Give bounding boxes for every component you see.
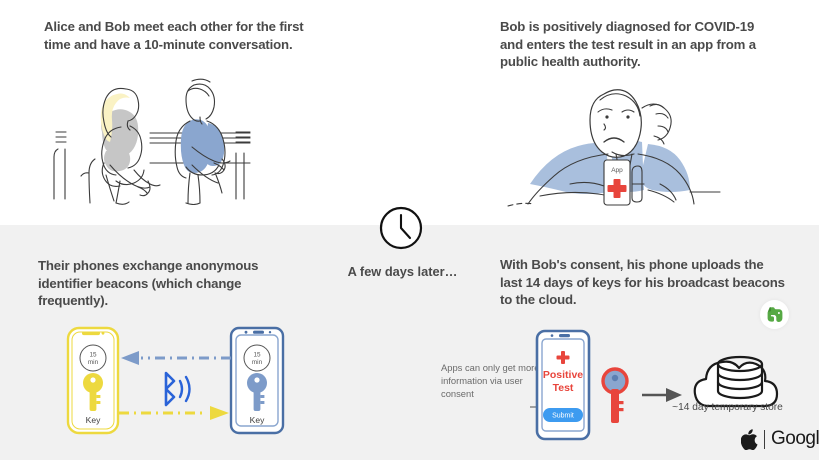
upload-arrow-icon [642, 388, 682, 402]
beacon-arrowhead-left [121, 351, 139, 365]
brand-lockup: Google [741, 428, 819, 450]
submit-label: Submit [552, 413, 574, 420]
alice-timer-value: 15 [89, 352, 97, 359]
shoulder-fill-left [530, 143, 610, 194]
beacon-arrowhead-right [210, 406, 229, 420]
alice-timer-unit: min [88, 359, 99, 366]
alice-phone: 15 min Key [68, 328, 118, 433]
bob-timer-unit: min [252, 359, 263, 366]
step1-heading: Alice and Bob meet each other for the fi… [44, 18, 304, 53]
bob-key-label: Key [250, 415, 265, 425]
bob-timer-value: 15 [253, 352, 261, 359]
bluetooth-icon [166, 373, 190, 405]
alice-key-label: Key [86, 415, 101, 425]
positive-test-phone: Positive Test Submit [537, 331, 589, 439]
diagnosed-man-illustration: App [500, 80, 735, 210]
positive-line1: Positive [543, 369, 583, 381]
cloud-database-icon [695, 357, 777, 406]
beacon-exchange-illustration: 15 min Key 15 min [55, 325, 295, 440]
google-wordmark: Google [771, 428, 819, 450]
evernote-badge[interactable] [760, 300, 789, 329]
shoulder-fill-right [640, 144, 690, 192]
positive-line2: Test [553, 382, 574, 394]
step4-heading: With Bob's consent, his phone uploads th… [500, 256, 785, 309]
step3-heading: Their phones exchange anonymous identifi… [38, 257, 298, 310]
bench-scene-illustration [40, 75, 305, 205]
divider-label: A few days later… [330, 264, 475, 279]
apple-logo-icon [741, 429, 758, 450]
app-phone-label: App [611, 167, 623, 174]
clock-icon [378, 205, 424, 251]
red-key-icon [603, 369, 627, 423]
temporary-store-label: ~14 day temporary store [645, 402, 810, 413]
bob-phone: 15 min Key [231, 328, 283, 433]
slide-canvas: Alice and Bob meet each other for the fi… [0, 0, 819, 460]
evernote-elephant-icon [767, 306, 783, 323]
brand-divider [764, 430, 765, 449]
step2-heading: Bob is positively diagnosed for COVID-19… [500, 18, 780, 71]
